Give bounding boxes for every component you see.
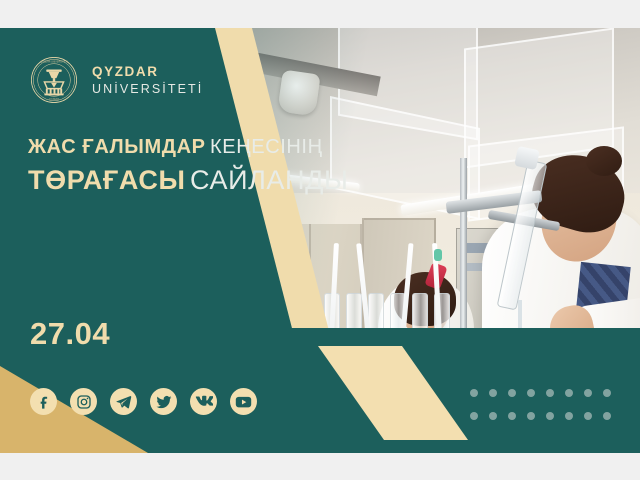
grid-dot bbox=[584, 412, 592, 420]
headline-strong-2: ТӨРАҒАСЫ bbox=[28, 165, 186, 195]
grid-dot bbox=[584, 389, 592, 397]
event-date: 27.04 bbox=[30, 316, 110, 352]
youtube-icon[interactable] bbox=[230, 388, 257, 415]
vk-icon[interactable] bbox=[190, 388, 217, 415]
grid-dot bbox=[603, 412, 611, 420]
decorative-dot-grid bbox=[470, 389, 622, 435]
instagram-icon[interactable] bbox=[70, 388, 97, 415]
grid-dot bbox=[470, 412, 478, 420]
headline-line-1: ЖАС ҒАЛЫМДАР КЕҢЕСІНІҢ bbox=[28, 136, 358, 159]
grid-dot bbox=[508, 389, 516, 397]
headline-light-1: КЕҢЕСІНІҢ bbox=[210, 136, 323, 158]
brand-wordmark: QYZDAR UNİVERSİTETİ bbox=[92, 64, 203, 95]
grid-dot bbox=[565, 389, 573, 397]
headline-line-2: ТӨРАҒАСЫ САЙЛАНДЫ bbox=[28, 165, 358, 196]
grid-dot bbox=[565, 412, 573, 420]
grid-dot bbox=[546, 389, 554, 397]
burette-cap bbox=[514, 146, 540, 170]
university-logo[interactable]: QYZDAR UNIVERSITETI QYZDAR QYZDAR UNİVER… bbox=[30, 56, 203, 104]
svg-text:QYZDAR: QYZDAR bbox=[49, 98, 59, 101]
grid-dot bbox=[546, 412, 554, 420]
grid-dot bbox=[508, 412, 516, 420]
facebook-icon[interactable] bbox=[30, 388, 57, 415]
brand-line-2: UNİVERSİTETİ bbox=[92, 82, 203, 96]
grid-dot bbox=[470, 389, 478, 397]
headline-block: ЖАС ҒАЛЫМДАР КЕҢЕСІНІҢ ТӨРАҒАСЫ САЙЛАНДЫ bbox=[28, 136, 358, 196]
poster-frame: QYZDAR UNIVERSITETI QYZDAR QYZDAR UNİVER… bbox=[0, 0, 640, 480]
telegram-icon[interactable] bbox=[110, 388, 137, 415]
ceiling-lamp-icon bbox=[277, 70, 320, 117]
brand-line-1: QYZDAR bbox=[92, 64, 203, 79]
grid-dot bbox=[603, 389, 611, 397]
svg-text:QYZDAR UNIVERSITETI: QYZDAR UNIVERSITETI bbox=[41, 61, 68, 64]
headline-light-2: САЙЛАНДЫ bbox=[190, 165, 349, 195]
university-crest-icon: QYZDAR UNIVERSITETI QYZDAR bbox=[30, 56, 78, 104]
headline-strong-1: ЖАС ҒАЛЫМДАР bbox=[28, 136, 206, 158]
pipette-tip bbox=[434, 249, 442, 261]
student-hair-bun bbox=[586, 146, 622, 176]
twitter-icon[interactable] bbox=[150, 388, 177, 415]
grid-dot bbox=[527, 389, 535, 397]
announcement-banner: QYZDAR UNIVERSITETI QYZDAR QYZDAR UNİVER… bbox=[0, 28, 640, 453]
grid-dot bbox=[527, 412, 535, 420]
social-links-row[interactable] bbox=[30, 388, 257, 415]
grid-dot bbox=[489, 389, 497, 397]
grid-dot bbox=[489, 412, 497, 420]
